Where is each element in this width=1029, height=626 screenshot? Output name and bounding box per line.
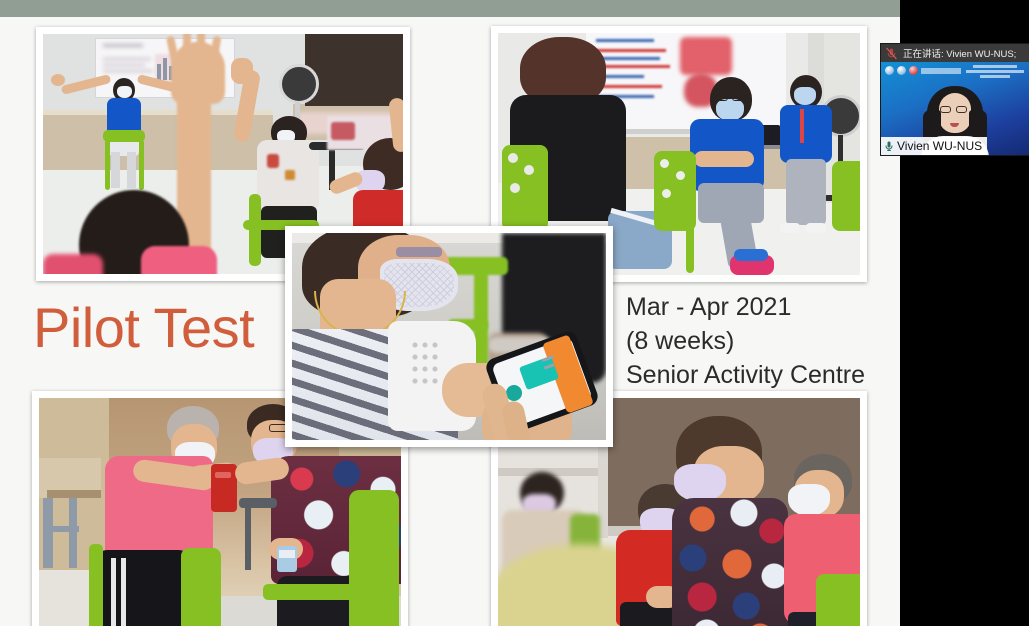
slide-details: Mar - Apr 2021 (8 weeks) Senior Activity… [626, 290, 865, 392]
detail-location: Senior Activity Centre [626, 358, 865, 392]
detail-period: Mar - Apr 2021 [626, 290, 865, 324]
microphone-muted-icon [885, 47, 898, 60]
participant-video-feed: Vivien WU-NUS [881, 62, 1029, 155]
banner-line-1 [973, 65, 1017, 68]
banner-line-2 [966, 70, 1024, 73]
zoom-shared-screen: Pilot Test Mar - Apr 2021 (8 weeks) Seni… [0, 0, 1029, 626]
photo-center-image [292, 233, 606, 440]
lecture-series-banner [964, 65, 1026, 80]
presentation-slide: Pilot Test Mar - Apr 2021 (8 weeks) Seni… [0, 0, 900, 626]
participant-video-panel[interactable]: 正在讲话: Vivien WU-NUS; [881, 44, 1029, 155]
participant-name: Vivien WU-NUS [897, 139, 982, 153]
speaker-face [939, 93, 971, 133]
logo-icon-3 [909, 66, 918, 75]
microphone-icon [883, 140, 895, 152]
slide-top-accent-bar [0, 0, 900, 17]
logo-wordmark [921, 68, 961, 74]
active-speaker-label: 正在讲话: Vivien WU-NUS; [903, 46, 1016, 60]
logo-icon-2 [897, 66, 906, 75]
participant-name-badge: Vivien WU-NUS [881, 137, 987, 155]
logo-icon-1 [885, 66, 894, 75]
active-speaker-bar: 正在讲话: Vivien WU-NUS; [881, 44, 1029, 62]
page-title: Pilot Test [33, 300, 254, 356]
banner-line-3 [980, 75, 1010, 78]
university-logos [885, 66, 961, 75]
speaker-glasses-right [956, 106, 967, 113]
detail-duration: (8 weeks) [626, 324, 865, 358]
speaker-glasses-left [940, 106, 951, 113]
photo-center [285, 226, 613, 447]
